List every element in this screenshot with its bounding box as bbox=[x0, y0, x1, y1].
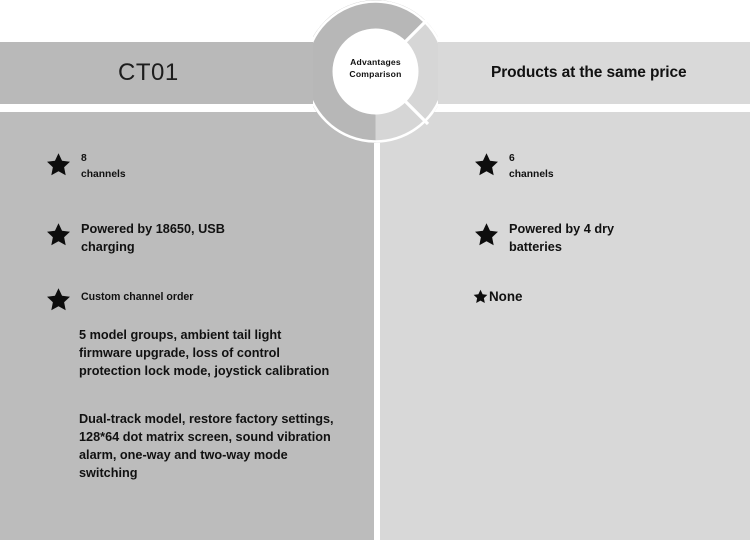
center-badge-line1: Advantages bbox=[313, 56, 438, 68]
star-icon bbox=[46, 222, 71, 247]
comparison-infographic: CT01 Products at the same price Advantag… bbox=[0, 0, 750, 551]
star-icon bbox=[474, 152, 499, 177]
list-item-label: None bbox=[489, 287, 522, 306]
list-item: None bbox=[473, 287, 522, 306]
center-badge-label: Advantages Comparison bbox=[313, 56, 438, 80]
list-item-label: Powered by 4 dry batteries bbox=[509, 220, 614, 256]
star-icon bbox=[46, 152, 71, 177]
detail-paragraph-2: Dual-track model, restore factory settin… bbox=[79, 410, 337, 482]
detail-paragraph-1: 5 model groups, ambient tail light firmw… bbox=[79, 326, 337, 380]
list-item-label: 8 channels bbox=[81, 151, 126, 182]
list-item: Custom channel order bbox=[46, 287, 193, 312]
star-icon bbox=[473, 289, 488, 304]
list-item-label: Custom channel order bbox=[81, 290, 193, 305]
list-item-label: 6 channels bbox=[509, 151, 554, 182]
list-item: Powered by 4 dry batteries bbox=[474, 220, 614, 256]
list-item: Powered by 18650, USB charging bbox=[46, 220, 225, 256]
left-column-content: 8 channels Powered by 18650, USB chargin… bbox=[0, 112, 374, 540]
header-title-left: CT01 bbox=[118, 59, 179, 87]
right-column-content: 6 channels Powered by 4 dry batteries No… bbox=[380, 112, 750, 540]
list-item: 8 channels bbox=[46, 152, 126, 182]
star-icon bbox=[474, 222, 499, 247]
list-item-label: Powered by 18650, USB charging bbox=[81, 220, 225, 256]
star-icon bbox=[46, 287, 71, 312]
center-badge-line2: Comparison bbox=[313, 68, 438, 80]
header-title-right: Products at the same price bbox=[491, 64, 687, 82]
list-item: 6 channels bbox=[474, 152, 554, 182]
